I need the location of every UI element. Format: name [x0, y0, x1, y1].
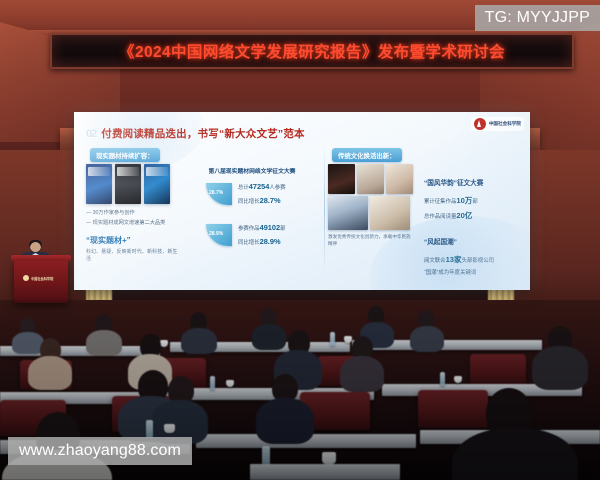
column-divider [324, 146, 325, 274]
right-column-chip: 传统文化焕活出新： [332, 148, 402, 162]
fan-chart-icon: 28.7% [206, 183, 232, 205]
fan-percent: 28.7% [209, 190, 223, 196]
cass-logo: 中国社会科学院 [471, 117, 524, 131]
left-book-covers [86, 164, 178, 204]
tea-cup [454, 376, 462, 383]
right-block-line: 总作品阅读量20亿 [424, 209, 512, 224]
stat-line-1: 参赛作品49102部 [238, 221, 286, 235]
slide-header: 02 付费阅读精品迭出，书写“新大众文艺”范本 [86, 126, 305, 141]
stat-value: 47254 [249, 182, 270, 191]
book-cover [386, 164, 413, 194]
stat-value: 49102 [260, 223, 281, 232]
book-cover [328, 196, 368, 230]
watermark-bottom-left: www.zhaoyang88.com [8, 437, 192, 465]
stat-value: 28.9% [260, 237, 281, 246]
left-keyword-sub: 科幻、悬疑、反映新时代、新科技、新生活 [86, 248, 178, 262]
book-cover [86, 164, 112, 204]
line-value: 10万 [456, 196, 472, 205]
bullet-item: — 30万作家参与创作 [86, 209, 178, 219]
book-cover [357, 164, 384, 194]
right-books-caption: 激发优秀传统文化创新力，承载中华民族精神 [328, 233, 412, 248]
attendee-body [181, 328, 217, 354]
fan-chart-icon: 28.9% [206, 224, 232, 246]
stat-suffix: 人参赛 [269, 185, 285, 191]
tea-cup [344, 336, 352, 343]
attendee-body [256, 398, 314, 444]
line-value: 13家 [446, 255, 462, 264]
attendee-body [410, 326, 444, 352]
right-block-line: 头部影视公司“国潮”成为年度关键词 [424, 268, 512, 279]
stat-suffix: 部 [280, 226, 285, 232]
right-block-title: “风起国潮” [424, 237, 512, 250]
cass-logo-name: 中国社会科学院 [489, 121, 521, 126]
water-bottle [330, 332, 335, 346]
right-block: “国风华韵”征文大赛 累计征集作品10万部 总作品阅读量20亿 [424, 178, 512, 223]
podium-logo-text: 中国社会科学院 [31, 276, 53, 281]
tea-cup [164, 424, 175, 433]
left-column-chip: 现实题材持续扩容： [90, 148, 160, 162]
tea-cup [160, 340, 168, 347]
fan-percent: 28.9% [209, 231, 223, 237]
attendee-body [28, 356, 72, 390]
projection-screen: 中国社会科学院 02 付费阅读精品迭出，书写“新大众文艺”范本 现实题材持续扩容… [74, 112, 530, 290]
line-prefix: 阅文联合 [424, 258, 446, 264]
right-column: 激发优秀传统文化创新力，承载中华民族精神 “国风华韵”征文大赛 累计征集作品10… [328, 164, 518, 279]
cass-logo-icon [474, 118, 486, 130]
water-bottle [210, 376, 215, 390]
book-cover [328, 164, 355, 194]
podium-logo-icon [23, 275, 29, 281]
slide-title: 付费阅读精品迭出，书写“新大众文艺”范本 [101, 126, 305, 141]
left-column: — 30万作家参与创作 — 现实题材成网文增速第二大品类 “现实题材+” 科幻、… [86, 164, 322, 262]
presentation-slide: 中国社会科学院 02 付费阅读精品迭出，书写“新大众文艺”范本 现实题材持续扩容… [74, 112, 530, 290]
stat-row: 28.9% 参赛作品49102部 同比增长28.9% [206, 221, 316, 248]
stat-row: 28.7% 总计47254人参赛 同比增长28.7% [206, 180, 316, 207]
chair [418, 390, 488, 428]
led-banner: 《2024中国网络文学发展研究报告》发布暨学术研讨会 [50, 33, 574, 69]
attendee-body [532, 346, 588, 390]
led-banner-text: 《2024中国网络文学发展研究报告》发布暨学术研讨会 [119, 40, 505, 62]
line-prefix: 总作品阅读量 [424, 214, 456, 220]
right-block-line: 阅文联合13家头部影视公司 [424, 253, 512, 268]
stat-line-1: 总计47254人参赛 [238, 180, 286, 194]
bullet-item: — 现实题材成网文增速第二大品类 [86, 219, 178, 229]
right-book-covers [328, 164, 414, 230]
water-bottle [146, 420, 153, 438]
stat-prefix: 同比增长 [238, 199, 260, 205]
podium-logo: 中国社会科学院 [23, 275, 53, 281]
right-block: “风起国潮” 阅文联合13家头部影视公司 头部影视公司“国潮”成为年度关键词 [424, 237, 512, 278]
stat-lines: 参赛作品49102部 同比增长28.9% [238, 221, 286, 248]
slide-decoration-left [74, 112, 204, 172]
chair [470, 354, 526, 386]
stat-line-2: 同比增长28.7% [238, 194, 286, 208]
stat-prefix: 总计 [238, 185, 249, 191]
contest-title: 第八届现实题材网络文学征文大赛 [188, 166, 316, 175]
tea-cup [322, 452, 336, 464]
book-cover [370, 196, 410, 230]
book-cover [144, 164, 170, 204]
line-prefix: 累计征集作品 [424, 199, 456, 205]
left-bullets: — 30万作家参与创作 — 现实题材成网文增速第二大品类 [86, 209, 178, 229]
left-keyword: “现实题材+” [86, 235, 178, 246]
attendee-body [86, 330, 122, 356]
table [250, 464, 400, 480]
stat-prefix: 参赛作品 [238, 226, 260, 232]
podium: 中国社会科学院 [14, 259, 68, 303]
water-bottle [440, 372, 445, 386]
line-value: 20亿 [456, 211, 472, 220]
podium-top [11, 255, 71, 261]
stat-prefix: 同比增长 [238, 240, 260, 246]
right-block-title: “国风华韵”征文大赛 [424, 178, 512, 191]
stat-lines: 总计47254人参赛 同比增长28.7% [238, 180, 286, 207]
watermark-top-right: TG: MYYJJPP [475, 5, 600, 31]
tea-cup [226, 380, 234, 387]
book-cover [115, 164, 141, 204]
attendee-body [340, 356, 384, 392]
line-suffix: 部 [472, 199, 477, 205]
stat-value: 28.7% [260, 196, 281, 205]
attendee-body [252, 324, 286, 350]
line-prefix: “国潮” [424, 270, 438, 276]
section-number: 02 [86, 128, 96, 140]
line-suffix: 成为年度关键词 [438, 270, 476, 276]
stat-line-2: 同比增长28.9% [238, 235, 286, 249]
right-block-line: 累计征集作品10万部 [424, 194, 512, 209]
conference-photo: 《2024中国网络文学发展研究报告》发布暨学术研讨会 中国社会科学院 02 付费… [0, 0, 600, 480]
line-suffix: 头部影视公司 [462, 258, 494, 264]
